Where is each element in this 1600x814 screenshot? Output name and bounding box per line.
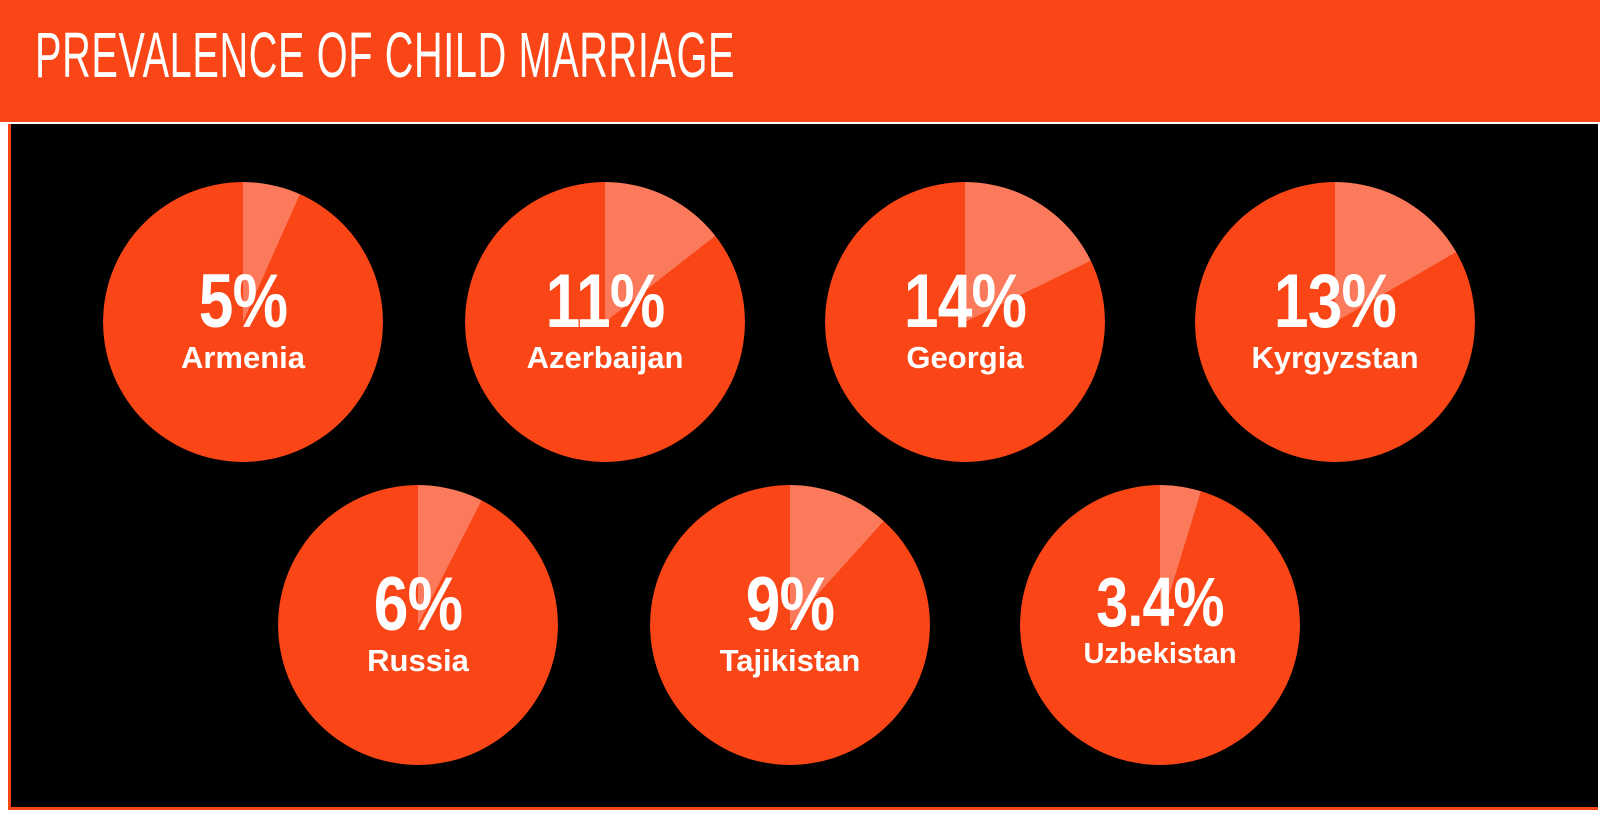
page-title: PREVALENCE OF CHILD MARRIAGE: [35, 20, 735, 90]
pie-chart-russia: 6%Russia: [278, 485, 558, 765]
pie-slice-group: [1195, 182, 1475, 462]
pie-chart-uzbekistan: 3.4%Uzbekistan: [1020, 485, 1300, 765]
pie-slice-group: [825, 182, 1105, 462]
pie-slice-group: [650, 485, 930, 765]
charts-panel: 5%Armenia11%Azerbaijan14%Georgia13%Kyrgy…: [8, 124, 1598, 810]
pie-chart-armenia: 5%Armenia: [103, 182, 383, 462]
pie-chart-kyrgyzstan: 13%Kyrgyzstan: [1195, 182, 1475, 462]
pie-slice-group: [465, 182, 745, 462]
header-band: PREVALENCE OF CHILD MARRIAGE: [0, 0, 1600, 122]
pie-chart-azerbaijan: 11%Azerbaijan: [465, 182, 745, 462]
pie-slice-group: [278, 485, 558, 765]
pie-chart-georgia: 14%Georgia: [825, 182, 1105, 462]
pie-chart-tajikistan: 9%Tajikistan: [650, 485, 930, 765]
pie-slice-group: [103, 182, 383, 462]
pie-slice-group: [1020, 485, 1300, 765]
infographic-root: PREVALENCE OF CHILD MARRIAGE 5%Armenia11…: [0, 0, 1600, 814]
